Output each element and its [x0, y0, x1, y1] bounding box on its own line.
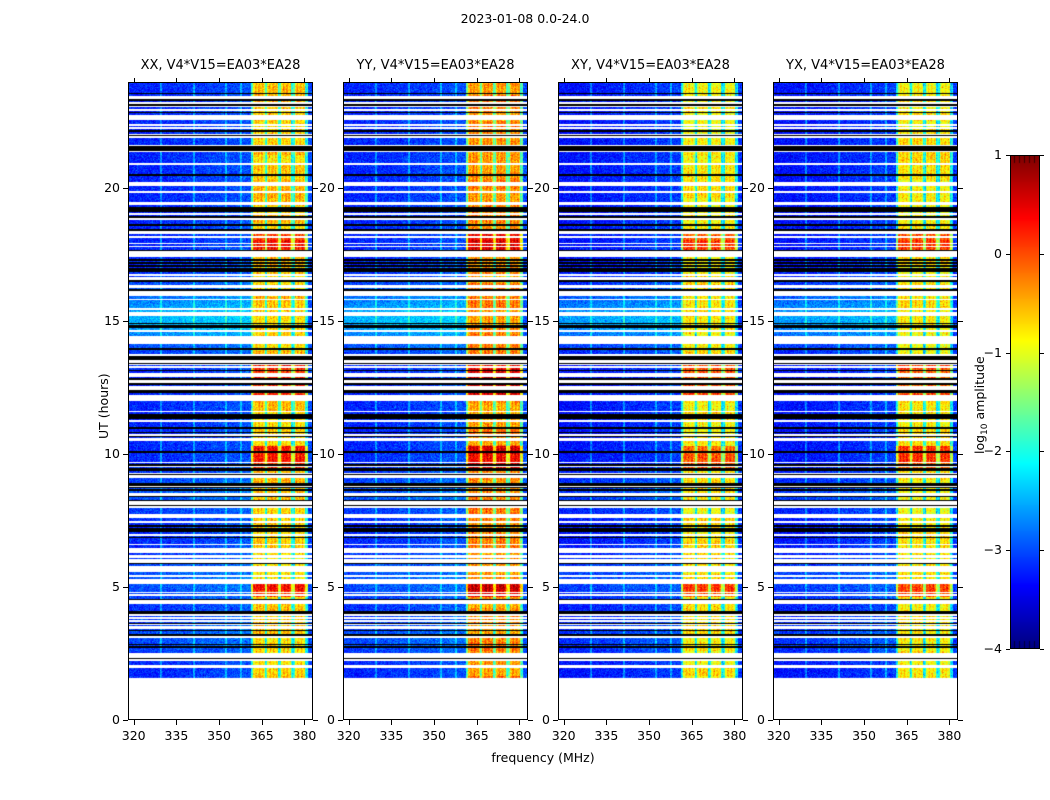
- x-tick-top: [477, 78, 478, 83]
- x-tick: [949, 720, 950, 725]
- x-tick: [606, 720, 607, 725]
- y-tick-label: 15: [502, 313, 550, 328]
- y-tick: [338, 587, 343, 588]
- figure-suptitle: 2023-01-08 0.0-24.0: [0, 11, 1050, 26]
- x-tick-top: [564, 78, 565, 83]
- x-tick-top: [606, 78, 607, 83]
- y-tick-right: [958, 587, 963, 588]
- y-tick-label: 10: [502, 446, 550, 461]
- colorbar-tick-right: [1040, 451, 1044, 452]
- y-tick: [123, 454, 128, 455]
- colorbar-tick: [1006, 550, 1010, 551]
- y-tick-label: 0: [717, 712, 765, 727]
- y-tick-label: 15: [717, 313, 765, 328]
- x-tick: [262, 720, 263, 725]
- x-axis-label: frequency (MHz): [128, 750, 958, 765]
- x-tick-label: 380: [279, 728, 329, 743]
- y-tick-label: 15: [72, 313, 120, 328]
- x-tick: [134, 720, 135, 725]
- x-tick: [779, 720, 780, 725]
- x-tick-top: [692, 78, 693, 83]
- x-tick-top: [262, 78, 263, 83]
- y-tick-right: [958, 321, 963, 322]
- colorbar-tick-right: [1040, 550, 1044, 551]
- y-tick-label: 20: [287, 180, 335, 195]
- spectrum-panel-xy[interactable]: [558, 82, 743, 720]
- y-tick: [338, 454, 343, 455]
- y-tick: [338, 720, 343, 721]
- colorbar-tick-right: [1040, 155, 1044, 156]
- panel-title-xy: XY, V4*V15=EA03*EA28: [528, 58, 773, 73]
- y-tick: [768, 587, 773, 588]
- colorbar: [1010, 155, 1040, 649]
- panel-title-yx: YX, V4*V15=EA03*EA28: [743, 58, 988, 73]
- colorbar-tick-label: 0: [958, 246, 1002, 261]
- x-tick-top: [434, 78, 435, 83]
- y-tick: [553, 188, 558, 189]
- waterfall-image-yy: [344, 83, 527, 719]
- y-tick: [553, 454, 558, 455]
- y-tick-label: 15: [287, 313, 335, 328]
- colorbar-tick-label: 1: [958, 147, 1002, 162]
- x-tick: [564, 720, 565, 725]
- y-tick: [338, 321, 343, 322]
- y-tick-label: 0: [72, 712, 120, 727]
- waterfall-image-xx: [129, 83, 312, 719]
- spectrum-panel-xx[interactable]: [128, 82, 313, 720]
- waterfall-image-yx: [774, 83, 957, 719]
- x-tick: [907, 720, 908, 725]
- colorbar-label-text: log: [972, 435, 987, 454]
- x-tick-label: 380: [924, 728, 974, 743]
- y-tick-right: [958, 188, 963, 189]
- y-tick-label: 5: [287, 579, 335, 594]
- x-tick-top: [734, 78, 735, 83]
- y-tick: [123, 188, 128, 189]
- x-tick: [349, 720, 350, 725]
- y-tick: [768, 720, 773, 721]
- colorbar-tick: [1006, 353, 1010, 354]
- y-tick: [768, 188, 773, 189]
- colorbar-tick-label: −4: [958, 641, 1002, 656]
- x-tick-top: [176, 78, 177, 83]
- figure-canvas: 2023-01-08 0.0-24.0 XX, V4*V15=EA03*EA28…: [0, 0, 1050, 800]
- x-tick-label: 380: [494, 728, 544, 743]
- x-tick-top: [219, 78, 220, 83]
- y-axis-label: UT (hours): [96, 373, 111, 439]
- spectrum-panel-yy[interactable]: [343, 82, 528, 720]
- y-tick: [768, 321, 773, 322]
- y-tick-label: 20: [502, 180, 550, 195]
- colorbar-tick: [1006, 649, 1010, 650]
- x-tick: [821, 720, 822, 725]
- x-tick-top: [519, 78, 520, 83]
- x-tick-top: [649, 78, 650, 83]
- x-tick-top: [907, 78, 908, 83]
- y-tick: [768, 454, 773, 455]
- y-tick: [553, 321, 558, 322]
- colorbar-tick: [1006, 155, 1010, 156]
- y-tick-label: 0: [502, 712, 550, 727]
- y-tick: [123, 321, 128, 322]
- y-tick-label: 5: [502, 579, 550, 594]
- y-tick-right: [958, 720, 963, 721]
- y-tick-label: 10: [287, 446, 335, 461]
- y-tick: [338, 188, 343, 189]
- y-tick-label: 5: [72, 579, 120, 594]
- x-tick: [434, 720, 435, 725]
- x-tick-top: [779, 78, 780, 83]
- colorbar-label-sub: 10: [980, 423, 990, 434]
- colorbar-tick-right: [1040, 649, 1044, 650]
- x-tick: [176, 720, 177, 725]
- colorbar-tick: [1006, 254, 1010, 255]
- x-tick-top: [949, 78, 950, 83]
- waterfall-image-xy: [559, 83, 742, 719]
- x-tick-top: [391, 78, 392, 83]
- y-tick: [553, 720, 558, 721]
- y-tick-label: 5: [717, 579, 765, 594]
- x-tick: [692, 720, 693, 725]
- y-tick: [553, 587, 558, 588]
- x-tick: [477, 720, 478, 725]
- x-tick-top: [134, 78, 135, 83]
- colorbar-tick-right: [1040, 353, 1044, 354]
- colorbar-tick-right: [1040, 254, 1044, 255]
- panel-title-yy: YY, V4*V15=EA03*EA28: [313, 58, 558, 73]
- y-tick: [123, 587, 128, 588]
- colorbar-label-tail: amplitude: [972, 356, 987, 423]
- colorbar-tick: [1006, 451, 1010, 452]
- x-tick-top: [864, 78, 865, 83]
- colorbar-tick-label: −3: [958, 542, 1002, 557]
- y-tick-label: 10: [72, 446, 120, 461]
- panel-title-xx: XX, V4*V15=EA03*EA28: [98, 58, 343, 73]
- x-tick-top: [821, 78, 822, 83]
- x-tick: [391, 720, 392, 725]
- y-tick: [123, 720, 128, 721]
- x-tick: [219, 720, 220, 725]
- y-tick-label: 10: [717, 446, 765, 461]
- x-tick: [864, 720, 865, 725]
- y-tick-label: 20: [717, 180, 765, 195]
- y-tick-label: 0: [287, 712, 335, 727]
- x-tick: [649, 720, 650, 725]
- colorbar-label: log10 amplitude: [972, 356, 987, 454]
- x-tick-top: [349, 78, 350, 83]
- x-tick-top: [304, 78, 305, 83]
- spectrum-panel-yx[interactable]: [773, 82, 958, 720]
- y-tick-label: 20: [72, 180, 120, 195]
- x-tick-label: 380: [709, 728, 759, 743]
